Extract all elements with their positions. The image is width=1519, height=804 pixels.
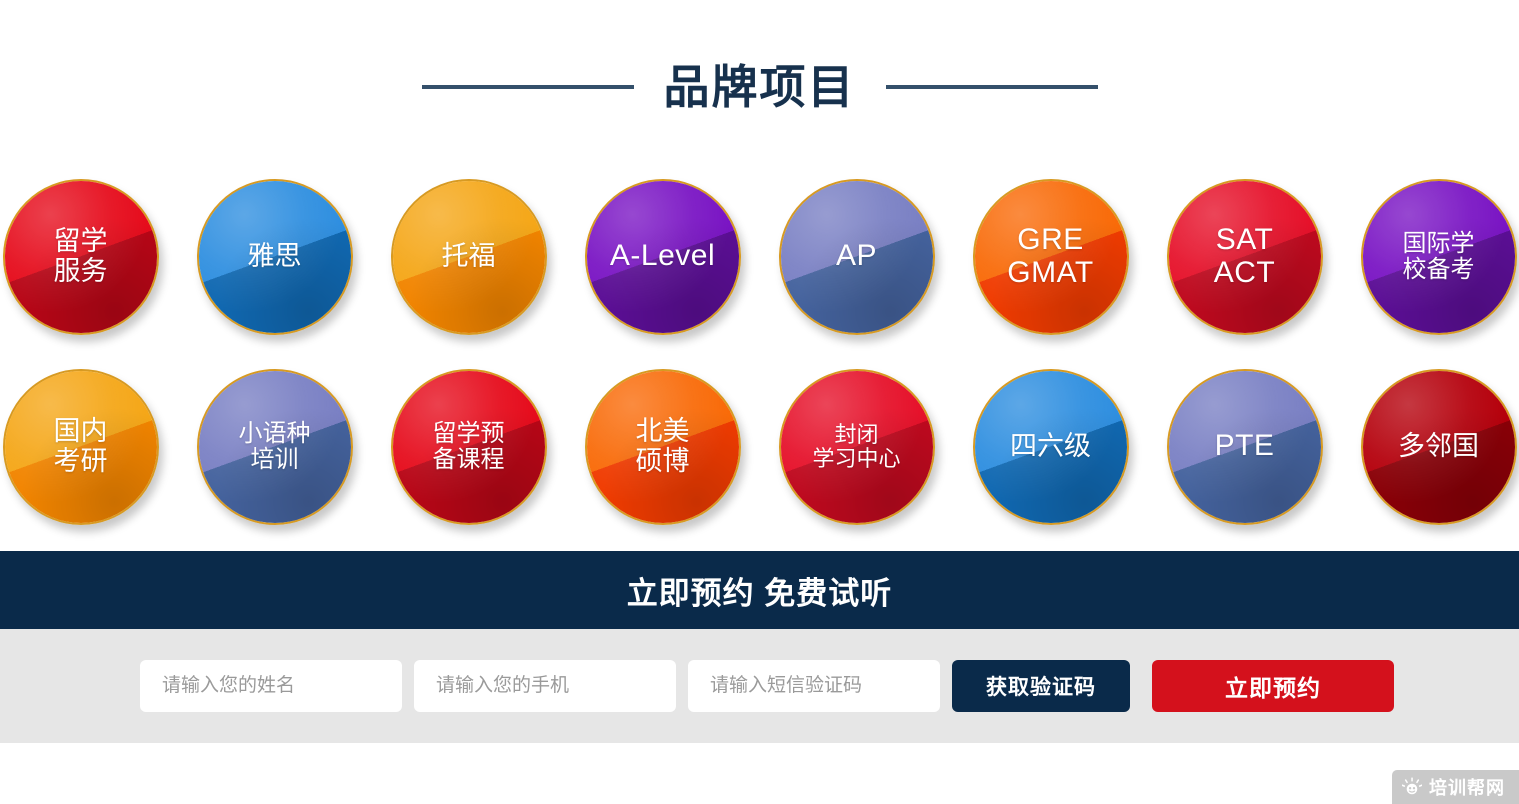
program-row-1: 留学 服务雅思托福A-LevelAPGRE GMATSAT ACT国际学 校备考: [0, 160, 1519, 353]
page-title: 品牌项目: [664, 64, 856, 110]
program-bubble[interactable]: 托福: [391, 179, 547, 335]
program-bubble-label: PTE: [1215, 430, 1275, 462]
program-bubble-label: 国际学 校备考: [1403, 231, 1475, 283]
program-bubble-label: 北美 硕博: [636, 417, 690, 475]
program-bubble[interactable]: A-Level: [585, 179, 741, 335]
program-bubble[interactable]: PTE: [1167, 369, 1323, 525]
program-bubble-label: 小语种 培训: [239, 421, 311, 473]
program-bubble-label: 四六级: [1010, 432, 1091, 461]
program-bubble[interactable]: GRE GMAT: [973, 179, 1129, 335]
program-bubble[interactable]: 四六级: [973, 369, 1129, 525]
program-bubble[interactable]: 留学 服务: [3, 179, 159, 335]
program-bubble-label: 留学预 备课程: [433, 421, 505, 473]
program-bubble[interactable]: 国际学 校备考: [1361, 179, 1517, 335]
program-bubble-label: 托福: [442, 242, 496, 271]
appointment-form: 获取验证码 立即预约: [0, 629, 1519, 743]
program-bubble-label: 国内 考研: [54, 417, 108, 475]
program-bubble[interactable]: 国内 考研: [3, 369, 159, 525]
page-title-bar: 品牌项目: [0, 0, 1519, 160]
program-bubble[interactable]: 多邻国: [1361, 369, 1517, 525]
program-bubble-label: SAT ACT: [1214, 224, 1276, 289]
program-bubble[interactable]: 留学预 备课程: [391, 369, 547, 525]
get-verification-code-button[interactable]: 获取验证码: [952, 660, 1130, 712]
cta-banner: 立即预约 免费试听: [0, 551, 1519, 629]
program-bubble-label: A-Level: [610, 240, 715, 272]
site-watermark: 培训帮网: [1392, 770, 1519, 804]
title-rule-right: [886, 85, 1098, 89]
program-row-2: 国内 考研小语种 培训留学预 备课程北美 硕博封闭 学习中心四六级PTE多邻国: [0, 350, 1519, 543]
program-bubble[interactable]: 小语种 培训: [197, 369, 353, 525]
program-bubble-label: GRE GMAT: [1007, 224, 1093, 289]
program-bubble[interactable]: AP: [779, 179, 935, 335]
sun-face-icon: [1402, 777, 1422, 797]
submit-appointment-button[interactable]: 立即预约: [1152, 660, 1394, 712]
cta-banner-text: 立即预约 免费试听: [627, 568, 893, 613]
phone-input[interactable]: [414, 660, 676, 712]
program-bubble-label: 留学 服务: [54, 227, 108, 285]
sms-code-input[interactable]: [688, 660, 940, 712]
program-bubble[interactable]: 雅思: [197, 179, 353, 335]
program-bubble[interactable]: 北美 硕博: [585, 369, 741, 525]
program-bubble-label: AP: [836, 240, 877, 272]
watermark-label: 培训帮网: [1429, 774, 1505, 800]
program-bubble-label: 多邻国: [1398, 432, 1479, 461]
program-bubble-label: 雅思: [248, 242, 302, 271]
name-input[interactable]: [140, 660, 402, 712]
program-bubble-label: 封闭 学习中心: [812, 423, 900, 471]
program-bubble[interactable]: SAT ACT: [1167, 179, 1323, 335]
title-rule-left: [422, 85, 634, 89]
program-bubble[interactable]: 封闭 学习中心: [779, 369, 935, 525]
program-grid: 留学 服务雅思托福A-LevelAPGRE GMATSAT ACT国际学 校备考…: [0, 160, 1519, 543]
